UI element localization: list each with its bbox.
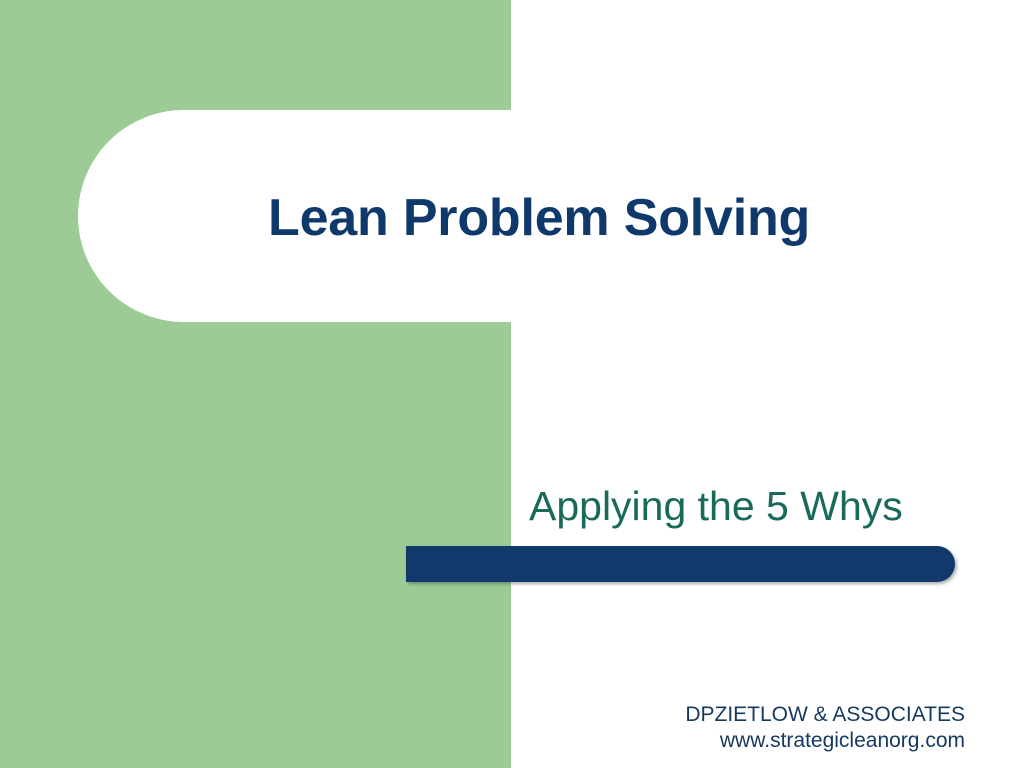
footer-website-url: www.strategicleanorg.com — [685, 728, 965, 754]
presentation-slide: Lean Problem Solving Applying the 5 Whys… — [0, 0, 1024, 768]
slide-title: Lean Problem Solving — [268, 183, 968, 253]
slide-subtitle: Applying the 5 Whys — [529, 480, 999, 532]
navy-accent-bar — [406, 546, 955, 582]
slide-footer: DPZIETLOW & ASSOCIATES www.strategiclean… — [685, 702, 965, 754]
footer-company-name: DPZIETLOW & ASSOCIATES — [685, 702, 965, 728]
